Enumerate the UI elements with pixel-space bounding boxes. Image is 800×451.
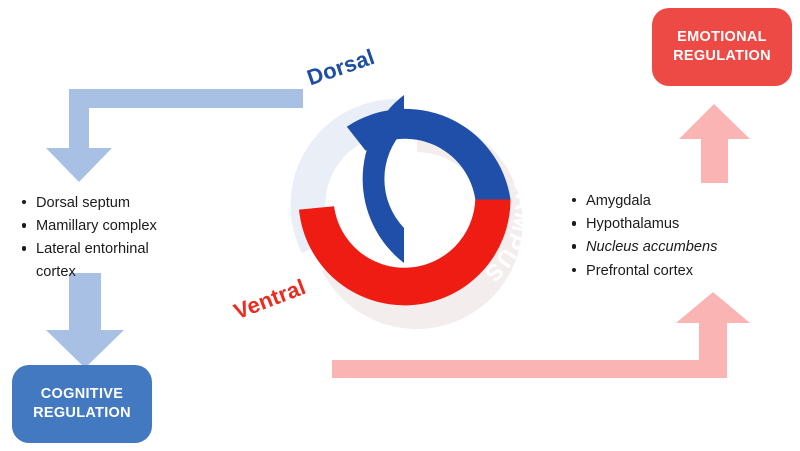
list-to-emotional-arrow: [679, 104, 750, 183]
ring-shadow: [291, 99, 523, 329]
ring-dorsal-arc: [347, 109, 511, 200]
emotional-box-line1: EMOTIONAL: [673, 28, 771, 47]
emotional-regulation-box[interactable]: EMOTIONAL REGULATION: [652, 8, 792, 86]
cognitive-box-line2: REGULATION: [33, 404, 131, 423]
dorsal-target-item: Lateral entorhinal cortex: [20, 238, 220, 282]
ventral-to-list-arrow: [332, 292, 750, 378]
dorsal-target-item: Mamillary complex: [20, 215, 220, 237]
emotional-box-line2: REGULATION: [673, 47, 771, 66]
ventral-target-item: Amygdala: [570, 190, 780, 212]
dorsal-to-list-arrow: [46, 89, 303, 182]
dorsal-label: Dorsal: [304, 44, 378, 91]
ventral-targets-list: AmygdalaHypothalamusNucleus accumbensPre…: [570, 190, 780, 283]
ventral-target-item: Prefrontal cortex: [570, 260, 780, 282]
hippocampus-label: HIPPOCAMPUS: [462, 99, 537, 288]
list-to-cognitive-arrow: [46, 273, 124, 368]
hippocampus-label-path: HIPPOCAMPUS: [462, 99, 537, 288]
cognitive-box-line1: COGNITIVE: [33, 385, 131, 404]
ventral-label: Ventral: [230, 274, 309, 325]
ring-dorsal-segment: [363, 95, 404, 263]
dorsal-targets-list: Dorsal septumMamillary complexLateral en…: [20, 192, 220, 284]
ring-ventral-arc: [299, 200, 511, 306]
dorsal-target-item: Dorsal septum: [20, 192, 220, 214]
ventral-target-item: Nucleus accumbens: [570, 236, 780, 258]
cognitive-regulation-box[interactable]: COGNITIVE REGULATION: [12, 365, 152, 443]
hippocampus-ring: [299, 95, 511, 305]
diagram-canvas: HIPPOCAMPUS Dorsal Ventral Dorsal septum…: [0, 0, 800, 451]
ventral-target-item: Hypothalamus: [570, 213, 780, 235]
